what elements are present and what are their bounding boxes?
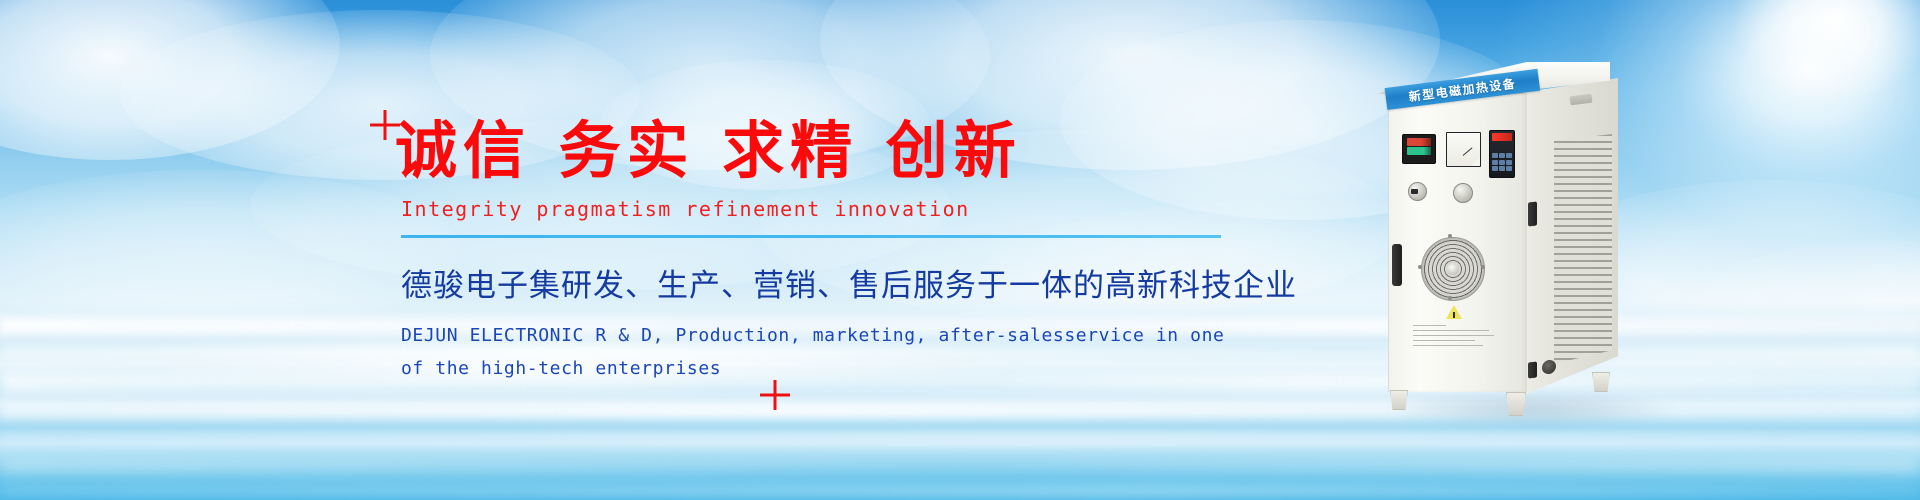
cabinet-foot xyxy=(1390,390,1408,410)
keypad-key xyxy=(1492,160,1498,165)
fan-screw xyxy=(1448,296,1452,300)
keypad-key xyxy=(1499,166,1505,171)
cabinet-foot xyxy=(1506,392,1526,416)
side-latch-icon xyxy=(1528,201,1537,226)
decal-line xyxy=(1413,335,1494,336)
tagline-english-line-2: of the high-tech enterprises xyxy=(401,352,1275,385)
decal-line xyxy=(1413,345,1483,346)
headline-chinese: 诚信 务实 求精 创新 xyxy=(395,118,1275,183)
divider-line xyxy=(401,235,1221,238)
cable-port-secondary-icon xyxy=(1528,361,1537,378)
banner-copy: 诚信 务实 求精 创新 Integrity pragmatism refinem… xyxy=(395,118,1275,386)
ventilation-slats xyxy=(1554,134,1612,364)
display-segment xyxy=(1407,147,1431,155)
keypad-key xyxy=(1499,160,1505,165)
product-image-heating-cabinet: 新型电磁加热设备 xyxy=(1378,62,1678,424)
tagline-english-line-1: DEJUN ELECTRONIC R & D, Production, mark… xyxy=(401,319,1275,352)
keypad-key xyxy=(1492,166,1498,171)
decal-line xyxy=(1413,325,1446,326)
fan-screw xyxy=(1418,265,1422,269)
tagline-english: DEJUN ELECTRONIC R & D, Production, mark… xyxy=(401,319,1275,386)
decal-line xyxy=(1413,340,1475,341)
decal-line xyxy=(1413,330,1489,331)
selector-knob-icon xyxy=(1408,182,1427,201)
analog-gauge-icon xyxy=(1446,132,1481,167)
promo-banner: 诚信 务实 求精 创新 Integrity pragmatism refinem… xyxy=(0,0,1920,500)
fan-screw xyxy=(1448,234,1452,238)
keypad-key xyxy=(1506,166,1512,171)
digital-display-icon xyxy=(1402,134,1436,164)
cabinet-foot xyxy=(1592,372,1610,392)
display-segment xyxy=(1407,138,1431,146)
fan-screw xyxy=(1481,265,1485,269)
keypad-buttons xyxy=(1492,153,1512,171)
adjust-knob-icon xyxy=(1453,183,1473,203)
door-handle-icon xyxy=(1392,244,1402,286)
fan-hub xyxy=(1447,263,1459,275)
gauge-corner xyxy=(1471,157,1480,166)
headline-english: Integrity pragmatism refinement innovati… xyxy=(401,197,1275,221)
keypad-key xyxy=(1499,153,1505,158)
warning-exclamation xyxy=(1453,312,1455,318)
tagline-chinese: 德骏电子集研发、生产、营销、售后服务于一体的高新科技企业 xyxy=(401,260,1275,305)
fan-grille-icon xyxy=(1421,237,1485,301)
keypad-key xyxy=(1506,160,1512,165)
keypad-key xyxy=(1506,153,1512,158)
inverter-keypad-icon xyxy=(1489,130,1515,178)
product-shadow xyxy=(1388,392,1678,426)
keypad-key xyxy=(1492,153,1498,158)
keypad-display xyxy=(1492,133,1512,141)
instruction-decal xyxy=(1413,325,1501,350)
